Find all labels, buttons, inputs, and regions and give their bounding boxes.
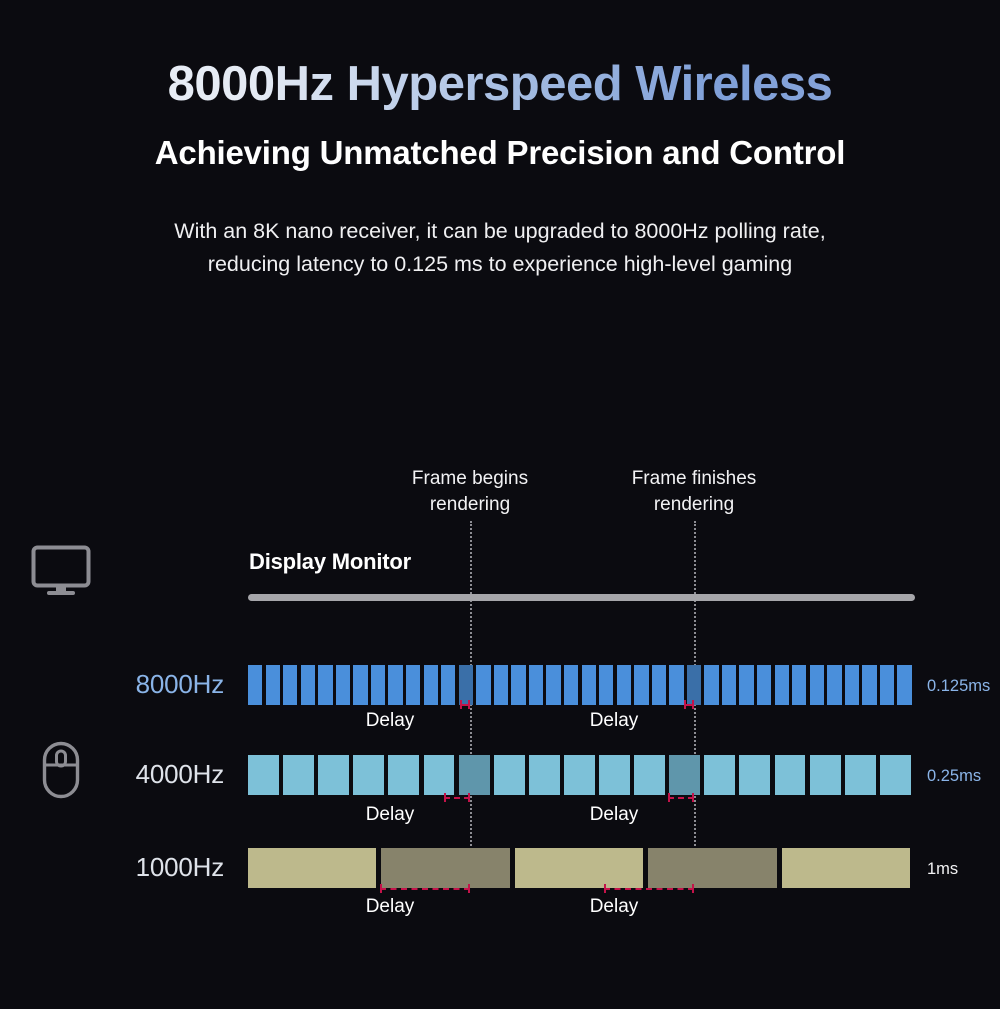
bar [775, 755, 806, 795]
bar [897, 665, 911, 705]
bar [669, 665, 683, 705]
bar [476, 665, 490, 705]
delay-label: Delay [310, 804, 470, 826]
bar [301, 665, 315, 705]
bar [406, 665, 420, 705]
bar [515, 848, 643, 888]
bar [266, 665, 280, 705]
bar [381, 848, 509, 888]
row-label-1000hz: 1000Hz [0, 852, 224, 883]
infographic-root: 8000Hz Hyperspeed Wireless Achieving Unm… [0, 0, 1000, 1009]
latency-label-1000hz: 1ms [927, 860, 958, 879]
delay-marker-line [604, 888, 694, 890]
bar [687, 665, 701, 705]
delay-marker-line [668, 797, 694, 799]
bar [648, 848, 776, 888]
bar [511, 665, 525, 705]
bar [704, 665, 718, 705]
delay-label: Delay [534, 896, 694, 918]
delay-marker-cap-left [460, 700, 462, 709]
bar [757, 665, 771, 705]
delay-marker [684, 700, 694, 709]
bar [634, 665, 648, 705]
bar [669, 755, 700, 795]
bar [880, 755, 911, 795]
bar [775, 665, 789, 705]
delay-marker-line [444, 797, 470, 799]
annotation-line-1: Frame begins [355, 466, 585, 492]
latency-diagram: Frame begins rendering Frame finishes re… [0, 0, 1000, 1009]
bar [424, 665, 438, 705]
bar [494, 665, 508, 705]
bar [564, 755, 595, 795]
delay-marker [444, 793, 470, 802]
bar [862, 665, 876, 705]
row-label-8000hz: 8000Hz [0, 669, 224, 700]
bar [459, 665, 473, 705]
bar [652, 665, 666, 705]
row-label-4000hz: 4000Hz [0, 759, 224, 790]
monitor-icon [31, 545, 91, 597]
bar [388, 755, 419, 795]
annotation-frame-finishes: Frame finishes rendering [579, 466, 809, 517]
bar [248, 755, 279, 795]
display-monitor-timeline [248, 594, 915, 601]
bar-strip-8000hz [248, 665, 915, 705]
delay-marker-cap-left [444, 793, 446, 802]
delay-marker-cap-left [380, 884, 382, 893]
bar [617, 665, 631, 705]
bar [739, 755, 770, 795]
bar [529, 755, 560, 795]
delay-marker [380, 884, 470, 893]
delay-marker-cap-left [668, 793, 670, 802]
delay-marker-cap-right [468, 700, 470, 709]
annotation-line-2: rendering [579, 492, 809, 518]
delay-marker-cap-left [604, 884, 606, 893]
delay-marker-cap-right [468, 793, 470, 802]
bar-strip-4000hz [248, 755, 915, 795]
delay-marker-cap-right [692, 793, 694, 802]
bar [599, 665, 613, 705]
bar [336, 665, 350, 705]
delay-label: Delay [310, 710, 470, 732]
delay-label: Delay [534, 710, 694, 732]
delay-marker-cap-left [684, 700, 686, 709]
bar [248, 848, 376, 888]
bar [722, 665, 736, 705]
bar [634, 755, 665, 795]
latency-label-8000hz: 0.125ms [927, 677, 990, 696]
bar [564, 665, 578, 705]
bar [353, 755, 384, 795]
delay-marker-cap-right [468, 884, 470, 893]
bar [494, 755, 525, 795]
bar [704, 755, 735, 795]
annotation-line-2: rendering [355, 492, 585, 518]
bar [318, 755, 349, 795]
bar [792, 665, 806, 705]
bar [529, 665, 543, 705]
delay-marker-cap-right [692, 700, 694, 709]
delay-marker [460, 700, 470, 709]
latency-label-4000hz: 0.25ms [927, 767, 981, 786]
bar [845, 755, 876, 795]
delay-marker-cap-right [692, 884, 694, 893]
annotation-frame-begins: Frame begins rendering [355, 466, 585, 517]
bar [582, 665, 596, 705]
bar [845, 665, 859, 705]
bar [441, 665, 455, 705]
bar [739, 665, 753, 705]
bar [388, 665, 402, 705]
delay-marker [668, 793, 694, 802]
bar [599, 755, 630, 795]
bar [424, 755, 455, 795]
delay-label: Delay [310, 896, 470, 918]
display-monitor-label: Display Monitor [249, 549, 411, 575]
delay-marker [604, 884, 694, 893]
delay-marker-line [380, 888, 470, 890]
bar [782, 848, 910, 888]
bar [810, 755, 841, 795]
bar [318, 665, 332, 705]
bar [353, 665, 367, 705]
bar [459, 755, 490, 795]
bar [546, 665, 560, 705]
bar [880, 665, 894, 705]
delay-label: Delay [534, 804, 694, 826]
bar [283, 755, 314, 795]
bar [371, 665, 385, 705]
bar [248, 665, 262, 705]
bar [283, 665, 297, 705]
bar [810, 665, 824, 705]
bar [827, 665, 841, 705]
bar-strip-1000hz [248, 848, 915, 888]
annotation-line-1: Frame finishes [579, 466, 809, 492]
